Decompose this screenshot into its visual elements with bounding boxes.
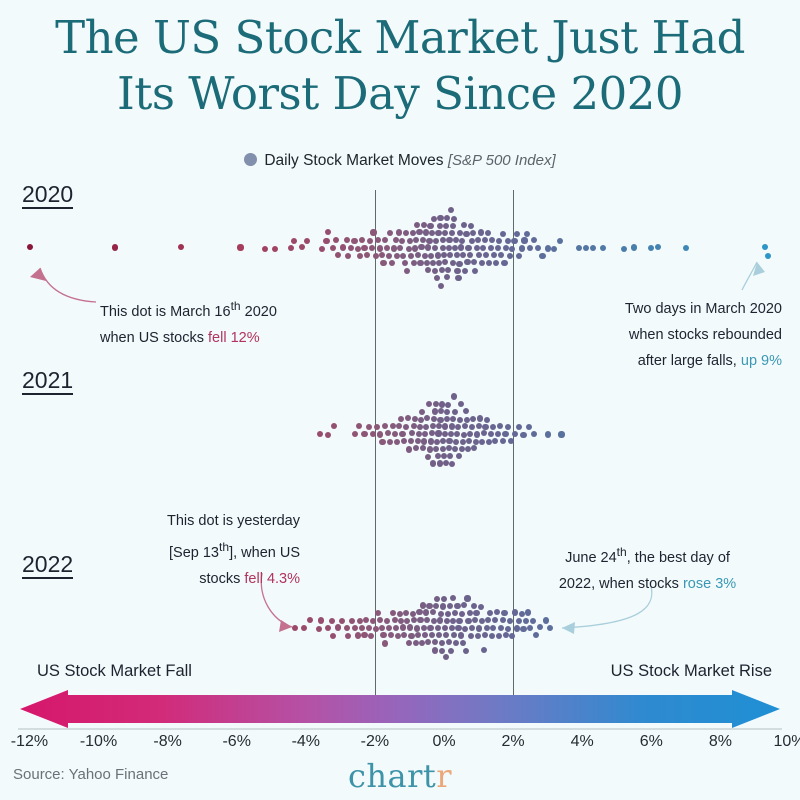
annotation-june-24: June 24th, the best day of 2022, when st… bbox=[540, 539, 755, 597]
swarm-dot bbox=[590, 245, 596, 251]
annotation-arrow-head bbox=[753, 262, 765, 276]
swarm-dot bbox=[423, 424, 429, 430]
swarm-dot bbox=[484, 625, 490, 631]
swarm-dot bbox=[345, 633, 351, 639]
swarm-dot bbox=[377, 245, 383, 251]
swarm-dot bbox=[379, 252, 385, 258]
swarm-dot bbox=[444, 215, 450, 221]
swarm-dot bbox=[411, 260, 417, 266]
swarm-dot bbox=[439, 267, 445, 273]
swarm-dot bbox=[395, 633, 401, 639]
swarm-dot bbox=[433, 446, 439, 452]
swarm-dot bbox=[500, 438, 506, 444]
swarm-dot bbox=[442, 230, 448, 236]
swarm-dot bbox=[450, 260, 456, 266]
swarm-dot bbox=[390, 423, 396, 429]
swarm-dot bbox=[330, 633, 336, 639]
swarm-dot bbox=[525, 609, 531, 615]
swarm-dot bbox=[449, 423, 455, 429]
swarm-dot bbox=[262, 246, 268, 252]
swarm-dot bbox=[502, 431, 508, 437]
swarm-dot bbox=[329, 618, 335, 624]
chartr-logo-main: chart bbox=[348, 757, 436, 795]
swarm-dot bbox=[424, 617, 430, 623]
swarm-dot bbox=[435, 252, 441, 258]
swarm-dot bbox=[331, 423, 337, 429]
swarm-dot bbox=[473, 439, 479, 445]
swarm-dot bbox=[500, 231, 506, 237]
swarm-dot bbox=[420, 237, 426, 243]
swarm-dot bbox=[516, 618, 522, 624]
swarm-dot bbox=[480, 245, 486, 251]
year-label-2022: 2022 bbox=[22, 552, 73, 579]
swarm-dot bbox=[459, 238, 465, 244]
swarm-dot bbox=[452, 245, 458, 251]
swarm-dot bbox=[445, 402, 451, 408]
swarm-dot bbox=[469, 238, 475, 244]
swarm-dot bbox=[430, 260, 436, 266]
swarm-dot bbox=[488, 245, 494, 251]
swarm-dot bbox=[425, 267, 431, 273]
swarm-dot bbox=[448, 207, 454, 213]
legend-label: Daily Stock Market Moves bbox=[264, 152, 443, 169]
axis-label-rise: US Stock Market Rise bbox=[611, 662, 772, 681]
swarm-dot bbox=[465, 245, 471, 251]
swarm-dot bbox=[476, 252, 482, 258]
swarm-dot bbox=[415, 252, 421, 258]
swarm-dot bbox=[453, 640, 459, 646]
swarm-dot bbox=[526, 424, 532, 430]
swarm-dot bbox=[516, 253, 522, 259]
swarm-dot bbox=[366, 424, 372, 430]
swarm-dot bbox=[469, 625, 475, 631]
page-title: The US Stock Market Just Had Its Worst D… bbox=[0, 10, 800, 122]
swarm-dot bbox=[398, 618, 404, 624]
swarm-dot bbox=[416, 609, 422, 615]
swarm-dot bbox=[423, 609, 429, 615]
swarm-dot bbox=[427, 446, 433, 452]
swarm-dot bbox=[401, 438, 407, 444]
swarm-dot bbox=[456, 453, 462, 459]
swarm-dot bbox=[462, 423, 468, 429]
annotation-arrow-head bbox=[30, 268, 46, 281]
swarm-dot bbox=[178, 244, 184, 250]
annotation-march-16-line1: This dot is March 16th 2020 bbox=[100, 293, 360, 325]
swarm-dot bbox=[440, 237, 446, 243]
title-line-2: Its Worst Day Since 2020 bbox=[0, 66, 800, 122]
swarm-dot bbox=[437, 215, 443, 221]
swarm-dot bbox=[466, 438, 472, 444]
swarm-dot bbox=[428, 253, 434, 259]
swarm-dot bbox=[456, 261, 462, 267]
swarm-dot bbox=[460, 439, 466, 445]
swarm-dot bbox=[495, 431, 501, 437]
axis-tick: 4% bbox=[571, 733, 594, 751]
swarm-dot bbox=[367, 238, 373, 244]
swarm-dot bbox=[465, 618, 471, 624]
swarm-dot bbox=[382, 423, 388, 429]
swarm-dot bbox=[442, 431, 448, 437]
swarm-dot bbox=[474, 245, 480, 251]
swarm-dot bbox=[396, 423, 402, 429]
swarm-dot bbox=[431, 416, 437, 422]
swarm-dot bbox=[427, 625, 433, 631]
swarm-dot bbox=[463, 408, 469, 414]
legend-sublabel: [S&P 500 Index] bbox=[448, 152, 556, 169]
swarm-dot bbox=[460, 640, 466, 646]
swarm-dot bbox=[411, 617, 417, 623]
swarm-dot bbox=[442, 625, 448, 631]
swarm-dot bbox=[437, 223, 443, 229]
swarm-dot bbox=[325, 432, 331, 438]
swarm-dot bbox=[415, 438, 421, 444]
swarm-dot bbox=[476, 625, 482, 631]
swarm-dot bbox=[428, 438, 434, 444]
swarm-dot bbox=[482, 632, 488, 638]
swarm-dot bbox=[545, 431, 551, 437]
annotation-yesterday-line1: This dot is yesterday bbox=[115, 508, 300, 534]
swarm-dot bbox=[359, 625, 365, 631]
swarm-dot bbox=[497, 423, 503, 429]
swarm-dot bbox=[450, 618, 456, 624]
swarm-dot bbox=[441, 596, 447, 602]
swarm-dot bbox=[424, 260, 430, 266]
swarm-dot bbox=[352, 431, 358, 437]
swarm-dot bbox=[357, 618, 363, 624]
swarm-dot bbox=[356, 423, 362, 429]
swarm-dot bbox=[453, 237, 459, 243]
swarm-dot bbox=[621, 246, 627, 252]
swarm-dot bbox=[449, 230, 455, 236]
swarm-dot bbox=[444, 274, 450, 280]
swarm-dot bbox=[481, 647, 487, 653]
swarm-dot bbox=[380, 260, 386, 266]
swarm-dot bbox=[426, 603, 432, 609]
swarm-dot bbox=[520, 432, 526, 438]
swarm-dot bbox=[440, 438, 446, 444]
swarm-dot bbox=[524, 231, 530, 237]
swarm-dot bbox=[460, 252, 466, 258]
swarm-dot bbox=[299, 244, 305, 250]
axis-tick: -10% bbox=[80, 733, 117, 751]
swarm-dot bbox=[444, 409, 450, 415]
swarm-dot bbox=[364, 252, 370, 258]
axis-tick: -8% bbox=[153, 733, 181, 751]
swarm-dot bbox=[377, 617, 383, 623]
swarm-dot bbox=[471, 259, 477, 265]
swarm-dot bbox=[489, 633, 495, 639]
swarm-dot bbox=[335, 624, 341, 630]
swarm-dot bbox=[483, 252, 489, 258]
swarm-dot bbox=[330, 245, 336, 251]
swarm-dot bbox=[418, 417, 424, 423]
chartr-logo-accent: r bbox=[436, 757, 452, 795]
swarm-dot bbox=[436, 632, 442, 638]
swarm-dot bbox=[454, 431, 460, 437]
swarm-dot bbox=[429, 230, 435, 236]
swarm-dot bbox=[443, 460, 449, 466]
swarm-dot bbox=[439, 640, 445, 646]
axis-tick: -6% bbox=[222, 733, 250, 751]
swarm-dot bbox=[459, 446, 465, 452]
swarm-dot bbox=[547, 625, 553, 631]
swarm-dot bbox=[404, 618, 410, 624]
swarm-dot bbox=[450, 416, 456, 422]
swarm-dot bbox=[345, 253, 351, 259]
swarm-dot bbox=[452, 610, 458, 616]
swarm-dot bbox=[387, 230, 393, 236]
swarm-dot bbox=[762, 244, 768, 250]
swarm-dot bbox=[537, 624, 543, 630]
swarm-dot bbox=[479, 260, 485, 266]
swarm-dot bbox=[417, 260, 423, 266]
swarm-dot bbox=[533, 632, 539, 638]
swarm-dot bbox=[421, 438, 427, 444]
swarm-dot bbox=[477, 415, 483, 421]
swarm-dot bbox=[455, 275, 461, 281]
annotation-yesterday: This dot is yesterday [Sep 13th], when U… bbox=[115, 508, 300, 592]
swarm-dot bbox=[442, 423, 448, 429]
swarm-dot bbox=[462, 268, 468, 274]
swarm-dot bbox=[484, 417, 490, 423]
swarm-dot bbox=[464, 259, 470, 265]
swarm-dot bbox=[351, 238, 357, 244]
axis-tick: -4% bbox=[292, 733, 320, 751]
swarm-dot bbox=[382, 640, 388, 646]
swarm-dot bbox=[419, 640, 425, 646]
swarm-dot bbox=[531, 237, 537, 243]
swarm-dot bbox=[427, 223, 433, 229]
swarm-dot bbox=[304, 238, 310, 244]
swarm-dot bbox=[316, 626, 322, 632]
swarm-dot bbox=[436, 423, 442, 429]
swarm-dot bbox=[391, 245, 397, 251]
swarm-dot bbox=[442, 259, 448, 265]
year-label-2020: 2020 bbox=[22, 182, 73, 209]
axis-tick: 8% bbox=[709, 733, 732, 751]
chart-legend: Daily Stock Market Moves [S&P 500 Index] bbox=[0, 152, 800, 170]
swarm-dot bbox=[411, 423, 417, 429]
swarm-dot bbox=[543, 617, 549, 623]
swarm-dot bbox=[446, 445, 452, 451]
swarm-dot bbox=[422, 632, 428, 638]
swarm-dot bbox=[408, 253, 414, 259]
swarm-dot bbox=[394, 253, 400, 259]
axis-rule bbox=[18, 728, 782, 730]
swarm-dot bbox=[429, 632, 435, 638]
swarm-dot bbox=[406, 640, 412, 646]
swarm-dot bbox=[386, 253, 392, 259]
swarm-dot bbox=[385, 430, 391, 436]
swarm-dot bbox=[430, 609, 436, 615]
swarm-dot bbox=[468, 223, 474, 229]
swarm-dot bbox=[446, 245, 452, 251]
swarm-dot bbox=[449, 625, 455, 631]
swarm-dot bbox=[429, 430, 435, 436]
swarm-dot bbox=[455, 625, 461, 631]
swarm-dot bbox=[384, 245, 390, 251]
swarm-dot bbox=[425, 454, 431, 460]
swarm-dot bbox=[413, 640, 419, 646]
swarm-dot bbox=[422, 431, 428, 437]
swarm-dot bbox=[355, 632, 361, 638]
swarm-dot bbox=[408, 438, 414, 444]
swarm-dot bbox=[465, 446, 471, 452]
swarm-dot bbox=[494, 609, 500, 615]
swarm-dot bbox=[474, 431, 480, 437]
swarm-dot bbox=[492, 617, 498, 623]
swarm-dot bbox=[452, 446, 458, 452]
swarm-dot bbox=[340, 244, 346, 250]
swarm-dot bbox=[520, 626, 526, 632]
swarm-dot bbox=[496, 633, 502, 639]
swarm-dot bbox=[431, 216, 437, 222]
swarm-dot bbox=[452, 409, 458, 415]
swarm-dot bbox=[461, 222, 467, 228]
swarm-dot bbox=[387, 439, 393, 445]
swarm-dot bbox=[407, 624, 413, 630]
swarm-dot bbox=[765, 253, 771, 259]
swarm-dot bbox=[382, 237, 388, 243]
annotation-march-16: This dot is March 16th 2020 when US stoc… bbox=[100, 293, 360, 351]
swarm-dot bbox=[473, 610, 479, 616]
swarm-dot bbox=[478, 604, 484, 610]
swarm-dot bbox=[531, 431, 537, 437]
swarm-dot bbox=[482, 424, 488, 430]
swarm-dot bbox=[307, 617, 313, 623]
swarm-dot bbox=[349, 618, 355, 624]
swarm-dot bbox=[390, 610, 396, 616]
swarm-dot bbox=[471, 603, 477, 609]
swarm-dot bbox=[433, 238, 439, 244]
swarm-dot bbox=[451, 632, 457, 638]
swarm-dot bbox=[317, 431, 323, 437]
swarm-dot bbox=[503, 632, 509, 638]
swarm-dot bbox=[430, 460, 436, 466]
swarm-dot bbox=[505, 238, 511, 244]
annotation-yesterday-line2: [Sep 13th], when US bbox=[115, 534, 300, 566]
swarm-dot bbox=[344, 625, 350, 631]
swarm-dot bbox=[476, 423, 482, 429]
swarm-dot bbox=[440, 245, 446, 251]
swarm-dot bbox=[683, 245, 689, 251]
swarm-dot bbox=[392, 617, 398, 623]
swarm-dot bbox=[472, 617, 478, 623]
swarm-dot bbox=[432, 268, 438, 274]
swarm-dot bbox=[489, 237, 495, 243]
swarm-dot bbox=[325, 229, 331, 235]
swarm-dot bbox=[557, 238, 563, 244]
swarm-dot bbox=[558, 431, 564, 437]
axis-tick: 10% bbox=[773, 733, 800, 751]
swarm-dot bbox=[379, 625, 385, 631]
swarm-dot bbox=[514, 625, 520, 631]
swarm-dot bbox=[366, 625, 372, 631]
swarm-dot bbox=[487, 610, 493, 616]
annotation-arrow-head bbox=[279, 620, 292, 632]
axis-tick: -2% bbox=[361, 733, 389, 751]
swarm-dot bbox=[301, 625, 307, 631]
gridline bbox=[375, 190, 376, 703]
swarm-dot bbox=[447, 603, 453, 609]
swarm-dot bbox=[463, 231, 469, 237]
swarm-dot bbox=[462, 626, 468, 632]
swarm-dot bbox=[467, 431, 473, 437]
swarm-dot bbox=[413, 445, 419, 451]
swarm-dot bbox=[443, 654, 449, 660]
swarm-dot bbox=[398, 416, 404, 422]
swarm-dot bbox=[445, 611, 451, 617]
swarm-dot bbox=[325, 625, 331, 631]
swarm-dot bbox=[439, 401, 445, 407]
chartr-logo: chartr bbox=[0, 757, 800, 795]
swarm-dot bbox=[415, 632, 421, 638]
swarm-dot bbox=[414, 222, 420, 228]
swarm-dot bbox=[444, 618, 450, 624]
swarm-dot bbox=[505, 626, 511, 632]
swarm-dot bbox=[455, 424, 461, 430]
swarm-dot bbox=[451, 393, 457, 399]
swarm-dot bbox=[600, 245, 606, 251]
swarm-dot bbox=[447, 453, 453, 459]
swarm-dot bbox=[464, 595, 470, 601]
swarm-dot bbox=[521, 237, 527, 243]
annotation-yesterday-line3: stocks fell 4.3% bbox=[115, 566, 300, 592]
swarm-dot bbox=[112, 244, 118, 250]
legend-dot-icon bbox=[244, 153, 257, 166]
swarm-dot bbox=[441, 252, 447, 258]
axis-label-fall: US Stock Market Fall bbox=[37, 662, 192, 681]
swarm-dot bbox=[405, 415, 411, 421]
swarm-dot bbox=[292, 625, 298, 631]
swarm-dot bbox=[467, 252, 473, 258]
swarm-dot bbox=[361, 245, 367, 251]
swarm-dot bbox=[426, 401, 432, 407]
swarm-dot bbox=[453, 439, 459, 445]
swarm-dot bbox=[530, 618, 536, 624]
swarm-dot bbox=[397, 245, 403, 251]
swarm-dot bbox=[291, 238, 297, 244]
swarm-dot bbox=[438, 283, 444, 289]
swarm-dot bbox=[479, 618, 485, 624]
swarm-dot bbox=[363, 617, 369, 623]
swarm-dot bbox=[527, 245, 533, 251]
swarm-dot bbox=[417, 424, 423, 430]
swarm-dot bbox=[491, 252, 497, 258]
swarm-dot bbox=[519, 611, 525, 617]
swarm-dot bbox=[446, 438, 452, 444]
swarm-dot bbox=[416, 229, 422, 235]
swarm-dot bbox=[479, 439, 485, 445]
swarm-dot bbox=[456, 618, 462, 624]
swarm-dot bbox=[432, 639, 438, 645]
swarm-dot bbox=[396, 229, 402, 235]
swarm-dot bbox=[412, 416, 418, 422]
swarm-dot bbox=[423, 229, 429, 235]
swarm-dot bbox=[418, 244, 424, 250]
swarm-dot bbox=[431, 618, 437, 624]
swarm-dot bbox=[422, 253, 428, 259]
swarm-dot bbox=[468, 633, 474, 639]
swarm-dot bbox=[288, 245, 294, 251]
swarm-dot bbox=[319, 246, 325, 252]
swarm-dot bbox=[486, 439, 492, 445]
swarm-dot bbox=[377, 431, 383, 437]
swarm-dot bbox=[408, 633, 414, 639]
swarm-dot bbox=[403, 230, 409, 236]
swarm-dot bbox=[469, 424, 475, 430]
swarm-dot bbox=[344, 237, 350, 243]
